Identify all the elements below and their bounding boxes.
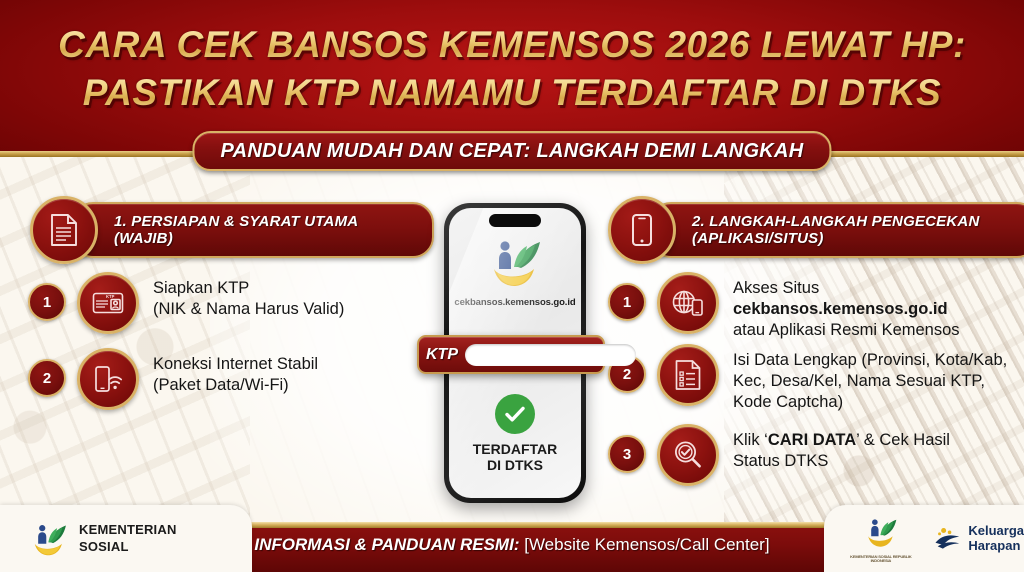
step-text-line1: Akses Situs cekbansos.kemensos.go.id bbox=[733, 278, 1024, 320]
page-title-line1: CARA CEK BANSOS KEMENSOS 2026 LEWAT HP: bbox=[0, 24, 1024, 66]
checklist-document-icon bbox=[657, 344, 719, 406]
step-row: 2 Isi Data Lengkap (Provinsi, Kota/Kab, … bbox=[608, 344, 1007, 413]
status-line1: TERDAFTAR bbox=[449, 442, 581, 458]
kemensos-label: KEMENTERIAN SOSIAL bbox=[79, 522, 177, 555]
status-line2: DI DTKS bbox=[449, 458, 581, 474]
svg-text:KTP: KTP bbox=[106, 294, 115, 299]
step-text-line1: Klik ‘CARI DATA’ & Cek Hasil bbox=[733, 430, 950, 451]
globe-phone-icon bbox=[657, 272, 719, 334]
phone-notch bbox=[489, 214, 541, 227]
step-text-line1: Isi Data Lengkap (Provinsi, Kota/Kab, bbox=[733, 350, 1007, 371]
step-number: 1 bbox=[608, 283, 646, 321]
ktp-search-bar[interactable]: KTP bbox=[417, 335, 605, 374]
step-text-plain2: ’ & Cek Hasil bbox=[856, 431, 950, 449]
subtitle-ribbon: PANDUAN MUDAH DAN CEPAT: LANGKAH DEMI LA… bbox=[192, 131, 831, 171]
step-text: Siapkan KTP (NIK & Nama Harus Valid) bbox=[153, 272, 344, 320]
section-header-label-1: 1. PERSIAPAN & SYARAT UTAMA (WAJIB) bbox=[72, 202, 434, 258]
phone-status: TERDAFTAR DI DTKS bbox=[449, 394, 581, 473]
step-text-line3: Kode Captcha) bbox=[733, 392, 1007, 413]
phone-url-text: cekbansos.kemensos.go.id bbox=[454, 297, 575, 308]
step-row: 3 Klik ‘CARI DATA’ & Cek Hasil Status DT… bbox=[608, 424, 950, 486]
pkh-label: Keluarga Harapan bbox=[968, 524, 1024, 553]
kemensos-mini-logo: KEMENTERIAN SOSIAL REPUBLIK INDONESIA bbox=[840, 515, 922, 563]
kemensos-label-line2: SOSIAL bbox=[79, 539, 177, 555]
ktp-search-input[interactable] bbox=[465, 344, 636, 366]
footer-logo-right: KEMENTERIAN SOSIAL REPUBLIK INDONESIA Ke… bbox=[824, 505, 1024, 572]
step-text-line1: Siapkan KTP bbox=[153, 278, 344, 299]
green-check-icon bbox=[495, 394, 535, 434]
step-text: Koneksi Internet Stabil (Paket Data/Wi-F… bbox=[153, 348, 318, 396]
phone-wifi-icon bbox=[77, 348, 139, 410]
kemensos-logo bbox=[484, 236, 546, 293]
step-text-plain: Akses Situs bbox=[733, 279, 819, 297]
id-card-icon: KTP bbox=[77, 272, 139, 334]
footer-logo-left: KEMENTERIAN SOSIAL bbox=[0, 505, 252, 572]
step-text: Klik ‘CARI DATA’ & Cek Hasil Status DTKS bbox=[733, 424, 950, 472]
step-row: 1 Akses Situs cekbansos.kemensos.go.id a… bbox=[608, 272, 1024, 341]
magnifier-check-icon bbox=[657, 424, 719, 486]
step-text-line1: Koneksi Internet Stabil bbox=[153, 354, 318, 375]
pkh-label-line1: Keluarga bbox=[968, 524, 1024, 539]
step-number: 1 bbox=[28, 283, 66, 321]
section-header-persiapan: 1. PERSIAPAN & SYARAT UTAMA (WAJIB) bbox=[30, 196, 434, 264]
section-header-label-2-line1: 2. LANGKAH-LANGKAH PENGECEKAN bbox=[692, 213, 979, 230]
step-text-line2: Kec, Desa/Kel, Nama Sesuai KTP, bbox=[733, 371, 1007, 392]
pkh-label-line2: Harapan bbox=[968, 539, 1024, 554]
step-row: 2 Koneksi Internet Stabil (Paket Data/Wi… bbox=[28, 348, 318, 410]
smartphone-icon bbox=[608, 196, 676, 264]
kemensos-mini-caption: KEMENTERIAN SOSIAL REPUBLIK INDONESIA bbox=[840, 555, 922, 563]
step-text-line2: (NIK & Nama Harus Valid) bbox=[153, 299, 344, 320]
step-text-bold: CARI DATA bbox=[768, 431, 856, 449]
step-row: 1 KTP Siapkan KTP (NIK & Nama Harus Vali… bbox=[28, 272, 344, 334]
kemensos-logo bbox=[862, 515, 900, 549]
pkh-logo bbox=[934, 526, 964, 552]
kemensos-logo bbox=[28, 520, 70, 558]
step-text-line2: (Paket Data/Wi-Fi) bbox=[153, 375, 318, 396]
step-text-line2: atau Aplikasi Resmi Kemensos bbox=[733, 320, 1024, 341]
step-number: 3 bbox=[608, 435, 646, 473]
section-header-langkah: 2. LANGKAH-LANGKAH PENGECEKAN (APLIKASI/… bbox=[608, 196, 1024, 264]
section-header-label-2-line2: (APLIKASI/SITUS) bbox=[692, 230, 979, 247]
page-title-line2: PASTIKAN KTP NAMAMU TERDAFTAR DI DTKS bbox=[0, 72, 1024, 114]
kemensos-label-line1: KEMENTERIAN bbox=[79, 522, 177, 538]
document-icon bbox=[30, 196, 98, 264]
footer-value: [Website Kemensos/Call Center] bbox=[524, 535, 769, 554]
status-badge: TERDAFTAR DI DTKS bbox=[449, 442, 581, 473]
step-text-plain: Klik ‘ bbox=[733, 431, 768, 449]
section-header-label-2: 2. LANGKAH-LANGKAH PENGECEKAN (APLIKASI/… bbox=[650, 202, 1024, 258]
step-text-bold: cekbansos.kemensos.go.id bbox=[733, 300, 948, 318]
step-text-line2: Status DTKS bbox=[733, 451, 950, 472]
infographic-root: CARA CEK BANSOS KEMENSOS 2026 LEWAT HP: … bbox=[0, 0, 1024, 572]
step-text: Akses Situs cekbansos.kemensos.go.id ata… bbox=[733, 272, 1024, 341]
footer-label: INFORMASI & PANDUAN RESMI: bbox=[254, 535, 519, 554]
step-number: 2 bbox=[28, 359, 66, 397]
step-text: Isi Data Lengkap (Provinsi, Kota/Kab, Ke… bbox=[733, 344, 1007, 413]
ktp-label: KTP bbox=[426, 346, 458, 364]
